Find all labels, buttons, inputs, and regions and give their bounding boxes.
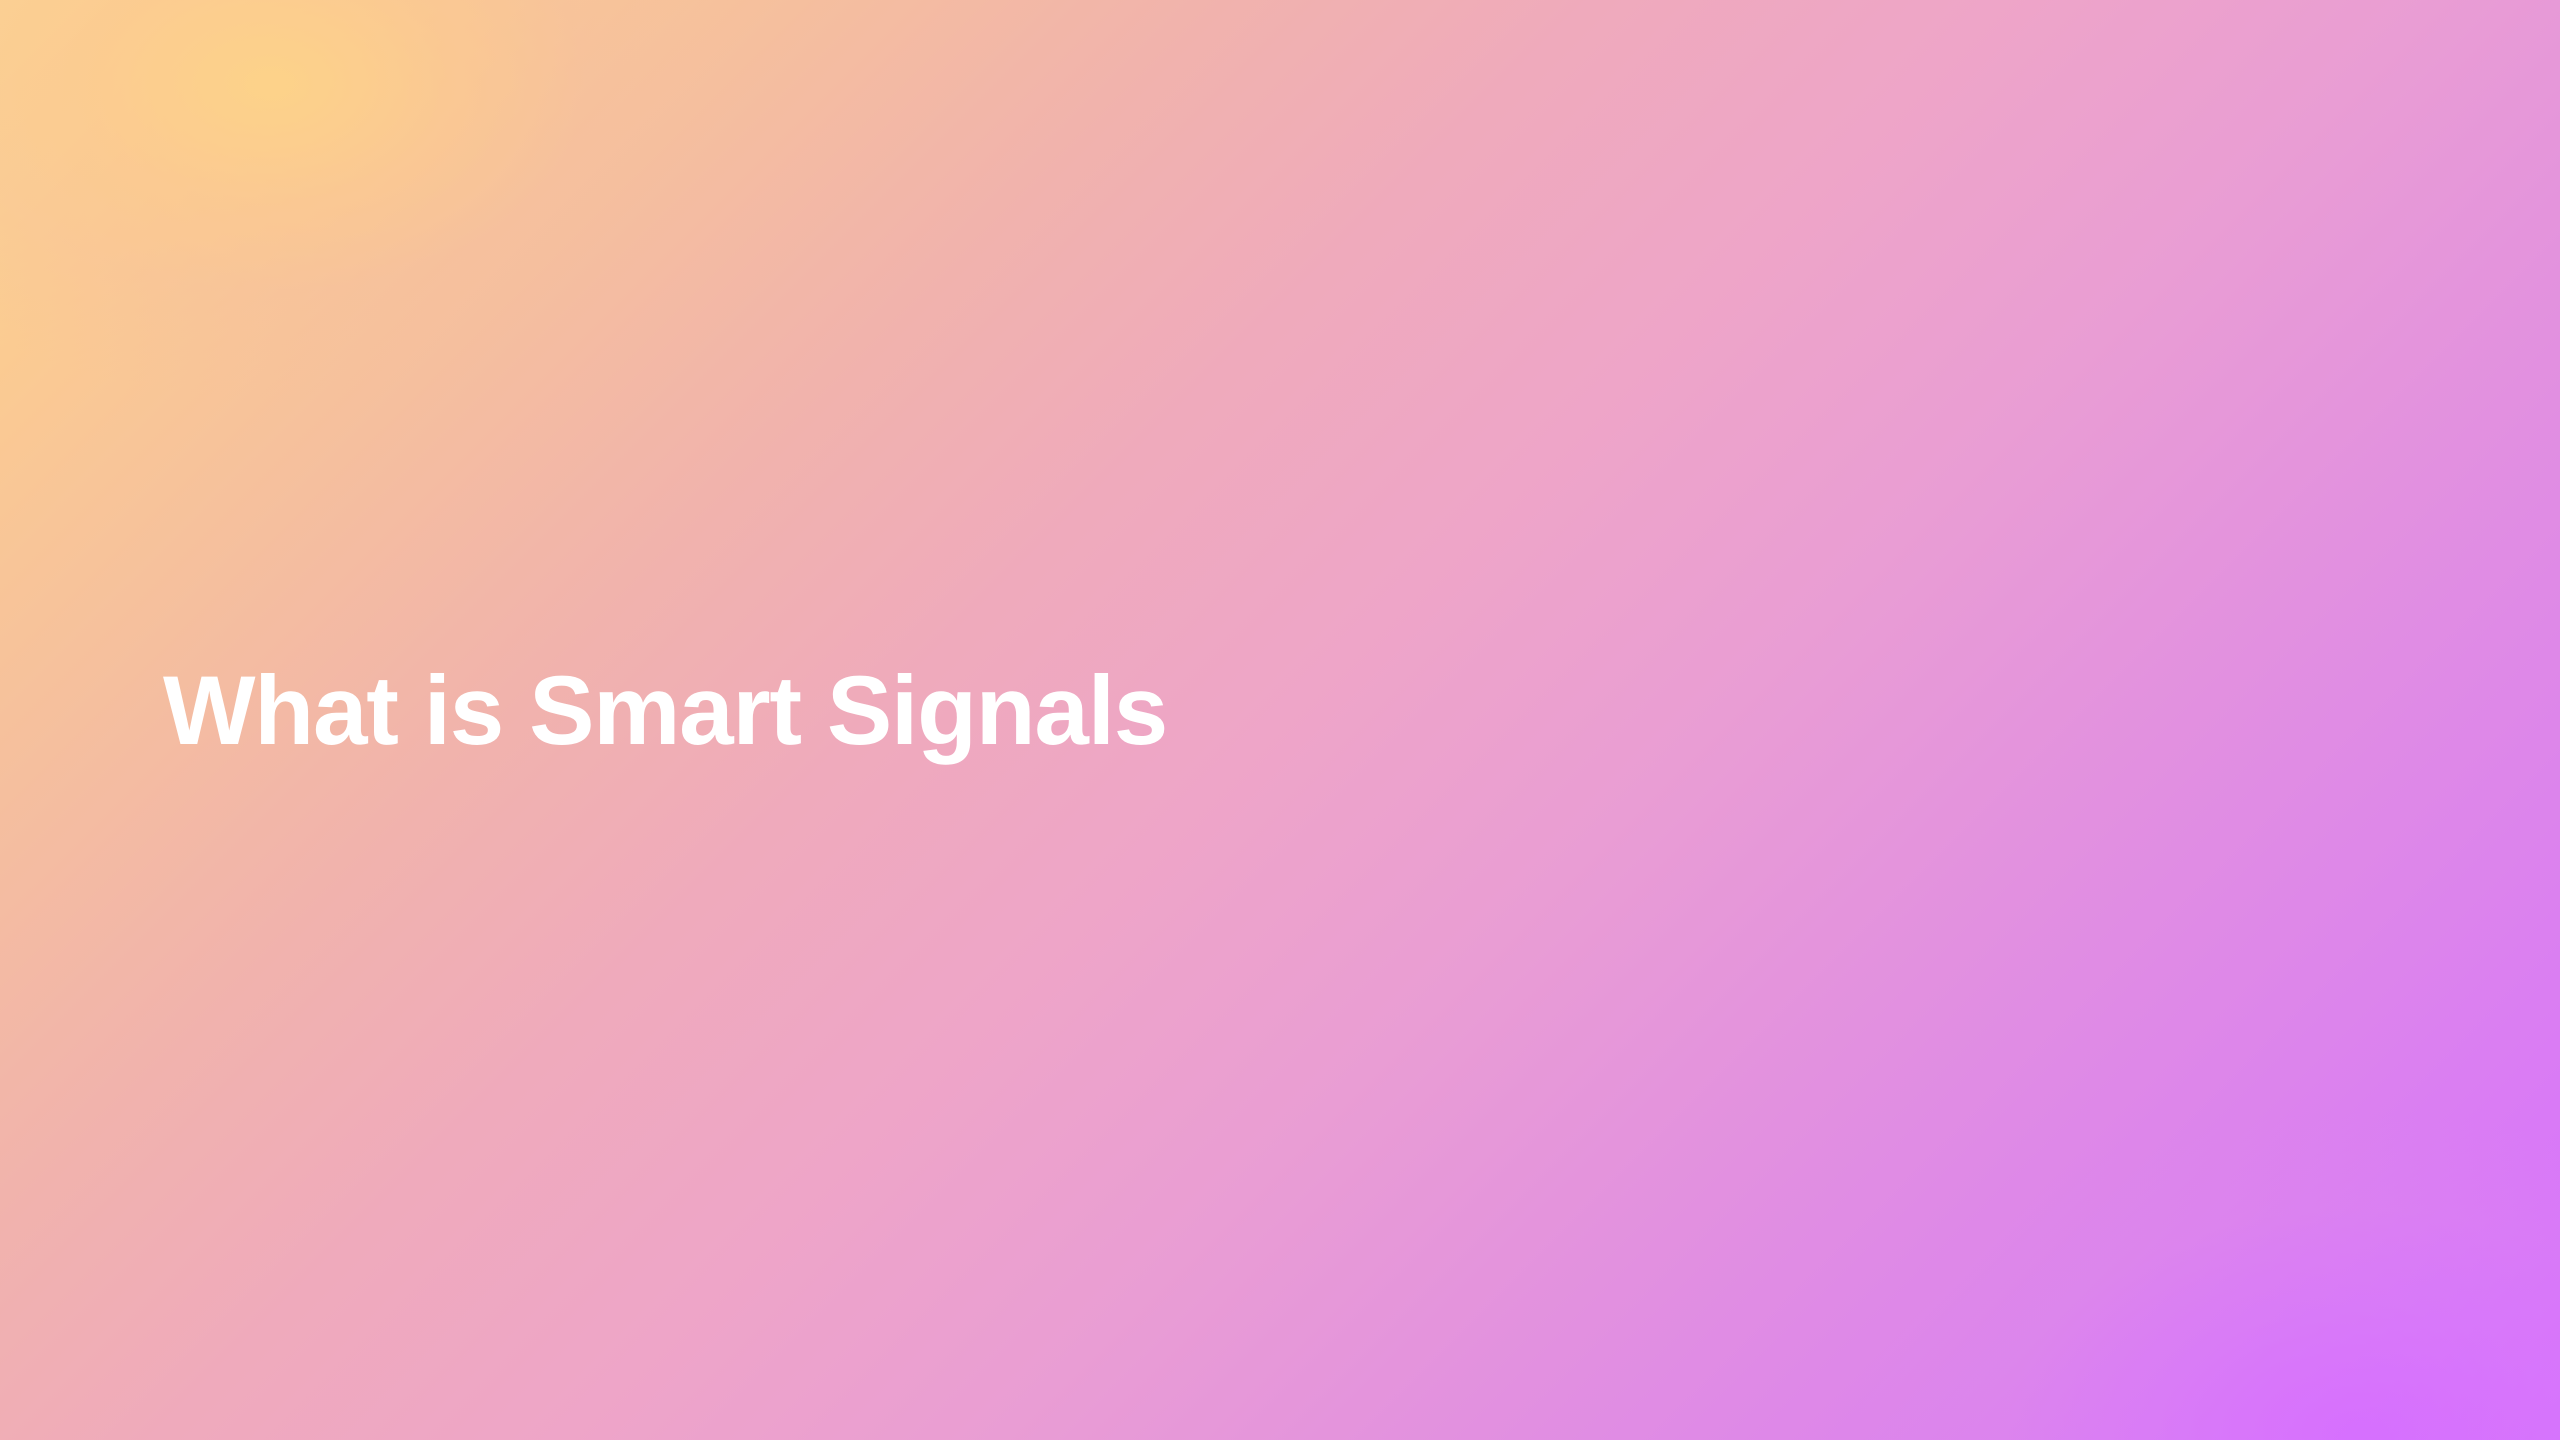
title-slide: What is Smart Signals — [0, 0, 2560, 1440]
slide-content: What is Smart Signals — [0, 0, 2560, 1440]
slide-title: What is Smart Signals — [163, 658, 1167, 764]
